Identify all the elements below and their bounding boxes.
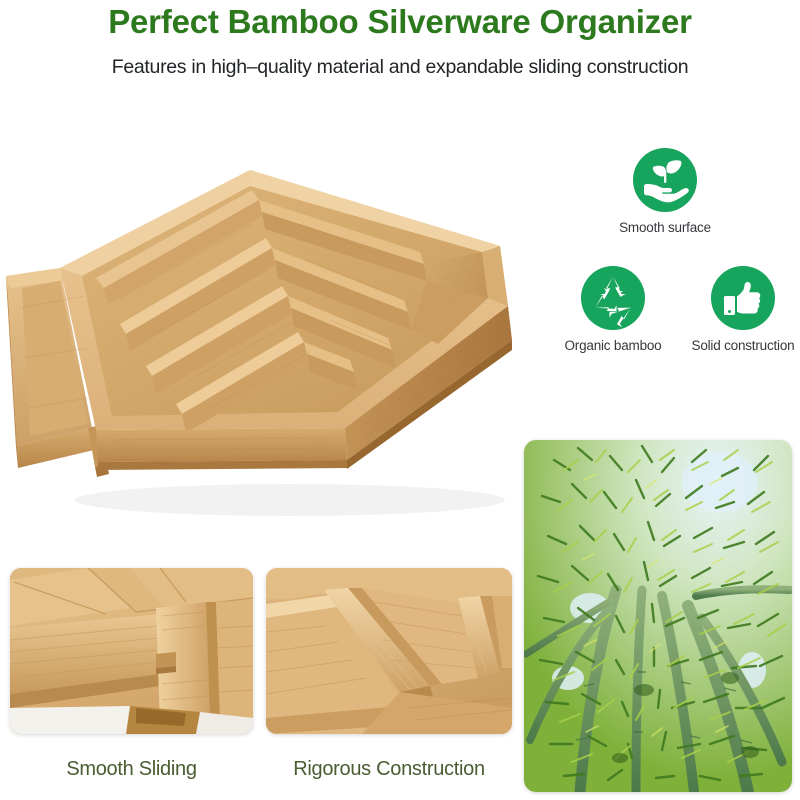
feature-badge-label: Solid construction bbox=[663, 337, 800, 354]
page-title: Perfect Bamboo Silverware Organizer bbox=[0, 2, 800, 42]
feature-badge-smooth-surface: Smooth surface bbox=[605, 148, 725, 236]
hero-product-image bbox=[0, 128, 545, 528]
feature-badge-label: Smooth surface bbox=[550, 219, 780, 236]
hand-leaf-icon bbox=[633, 148, 697, 212]
compartment-dividers-closeup bbox=[266, 568, 512, 734]
detail-image-smooth-sliding bbox=[10, 568, 253, 734]
detail-caption-smooth-sliding: Smooth Sliding bbox=[10, 756, 253, 782]
feature-badge-organic-bamboo: Organic bamboo bbox=[579, 266, 647, 354]
feature-badge-solid-construction: Solid construction bbox=[709, 266, 777, 354]
bamboo-tray-illustration bbox=[0, 128, 545, 528]
bamboo-canopy-illustration bbox=[524, 440, 792, 792]
recycle-icon bbox=[581, 266, 645, 330]
detail-caption-rigorous-construction: Rigorous Construction bbox=[266, 756, 512, 782]
sliding-joint-closeup bbox=[10, 568, 253, 734]
thumbs-up-icon bbox=[711, 266, 775, 330]
page-subtitle: Features in high–quality material and ex… bbox=[0, 54, 800, 80]
product-infographic: Perfect Bamboo Silverware Organizer Feat… bbox=[0, 0, 800, 800]
detail-image-rigorous-construction bbox=[266, 568, 512, 734]
bamboo-forest-image bbox=[524, 440, 792, 792]
